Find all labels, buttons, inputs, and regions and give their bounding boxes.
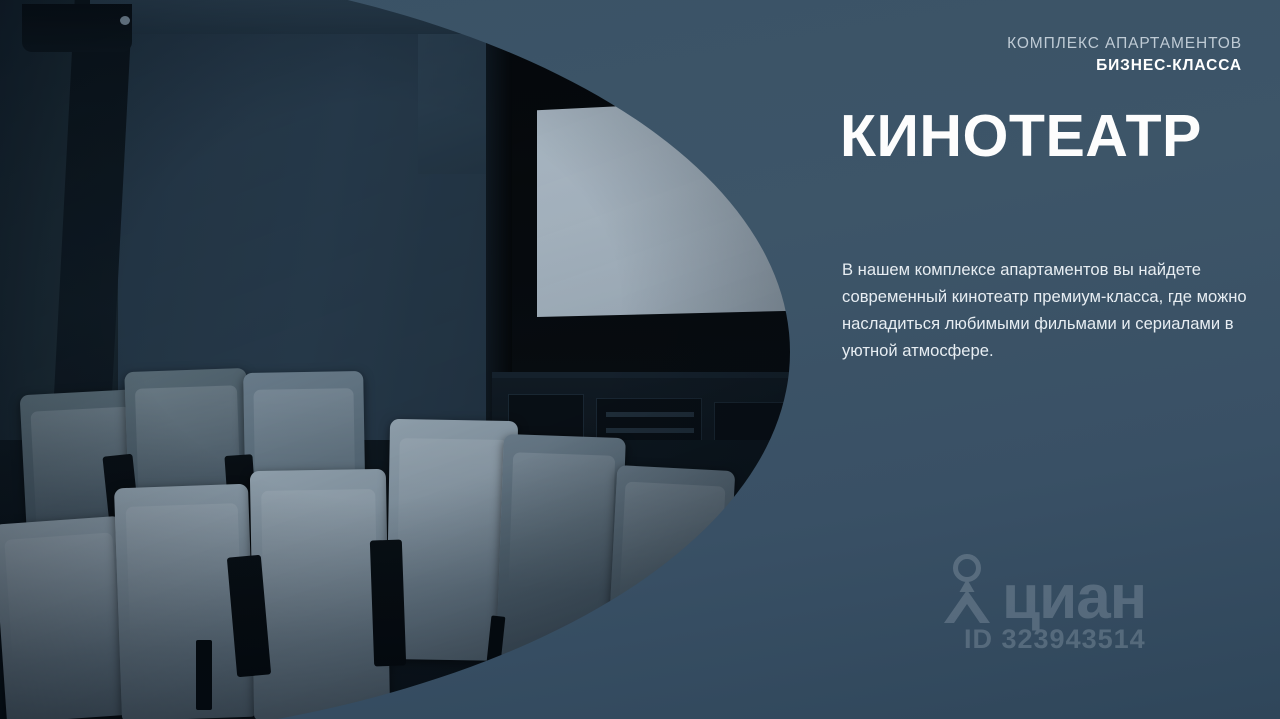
- eyebrow-line-1: КОМПЛЕКС АПАРТАМЕНТОВ: [1007, 34, 1242, 54]
- description-text: В нашем комплексе апартаментов вы найдет…: [842, 256, 1250, 364]
- promo-slide: КОМПЛЕКС АПАРТАМЕНТОВ БИЗНЕС-КЛАССА КИНО…: [0, 0, 1280, 719]
- page-title: КИНОТЕАТР: [840, 107, 1202, 166]
- eyebrow-line-2: БИЗНЕС-КЛАССА: [1007, 56, 1242, 76]
- cian-logo: циан: [938, 552, 1146, 624]
- map-pin-icon: [938, 552, 996, 624]
- cian-brand-text: циан: [1002, 571, 1146, 624]
- listing-id: ID 323943514: [964, 624, 1146, 655]
- brand-eyebrow: КОМПЛЕКС АПАРТАМЕНТОВ БИЗНЕС-КЛАССА: [1007, 34, 1242, 77]
- cian-watermark: циан ID 323943514: [938, 552, 1258, 664]
